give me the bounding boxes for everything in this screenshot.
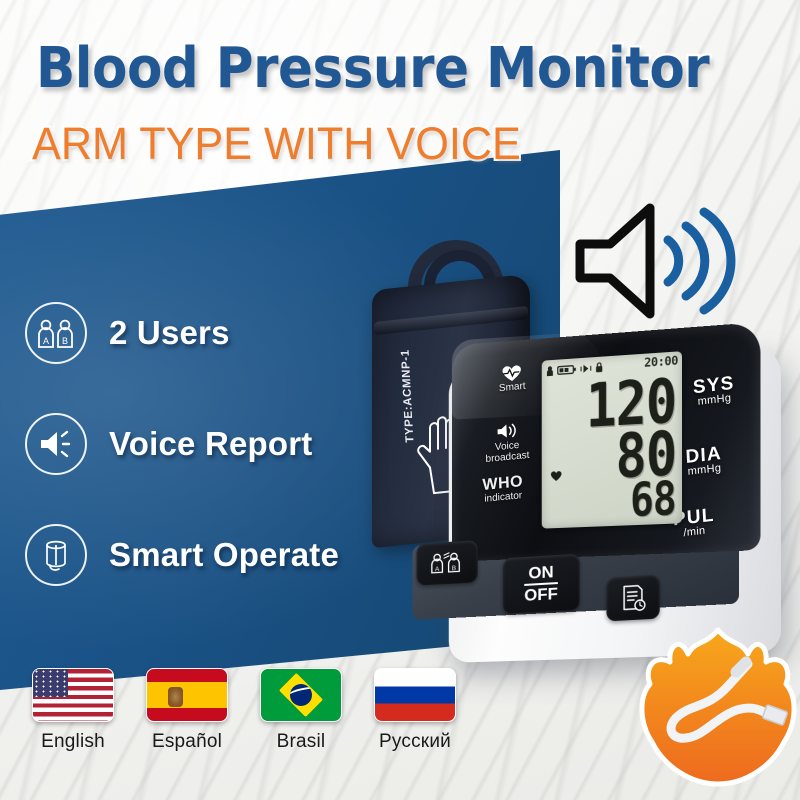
page-title: Blood Pressure Monitor [36,36,709,101]
cuff-smart-icon [25,524,87,586]
memory-button[interactable] [606,574,659,621]
user-switch-icon: A B [428,550,466,576]
language-label: Español [142,731,232,753]
two-users-icon: A B [25,302,87,364]
language-label: English [28,731,118,753]
page-subtitle: ARM TYPE WITH VOICE [32,118,521,170]
blood-pressure-monitor-device: Smart Voice broadcast WHO indicator SYS … [424,318,784,668]
feature-label: Voice Report [109,425,313,463]
speaker-small-icon [494,421,519,441]
spain-crest [168,687,183,707]
user-switch-button[interactable]: A B [417,540,478,585]
feature-item-2-users: A B 2 Users [0,300,420,366]
lcd-pul-value: 68 [630,475,676,524]
flag-brazil-icon [260,668,342,722]
svg-text:A: A [43,336,49,346]
heart-pulse-icon [499,363,524,383]
feature-label: Smart Operate [109,536,339,574]
feature-item-voice-report: Voice Report [0,411,420,477]
flag-spain-icon [146,668,228,722]
user-icon [547,365,554,375]
smart-label: Smart [499,381,526,395]
usa-canton [33,669,68,697]
brazil-globe [290,684,312,706]
speaker-voice-icon [25,413,87,475]
language-item-english[interactable]: English [28,668,118,753]
language-item-russian[interactable]: Русский [370,668,460,753]
battery-icon [557,364,576,375]
feature-item-smart-operate: Smart Operate [0,522,420,588]
flag-russia-icon [374,668,456,722]
voice-broadcast-indicator: Voice broadcast [465,418,548,467]
off-label: OFF [524,585,558,605]
language-label: Brasil [256,731,346,753]
feature-list: A B 2 Users Voice Report [0,300,420,633]
language-list: English Español Brasil Русский [28,668,460,753]
speaker-waves-icon [568,196,748,331]
usb-cable-badge [636,624,800,799]
header: Blood Pressure Monitor ARM TYPE WITH VOI… [0,0,800,180]
language-item-espanol[interactable]: Español [142,668,232,753]
feature-label: 2 Users [109,314,230,352]
svg-text:B: B [452,565,456,572]
lcd-display: 20:00 120 80 68 [542,351,682,528]
on-off-button[interactable]: ON OFF [503,554,580,614]
language-item-brasil[interactable]: Brasil [256,668,346,753]
svg-text:B: B [62,336,68,346]
flag-usa-icon [32,668,114,722]
lcd-heart-icon [549,468,563,482]
language-label: Русский [370,731,460,753]
memory-record-icon [618,582,648,614]
on-label: ON [524,563,558,583]
